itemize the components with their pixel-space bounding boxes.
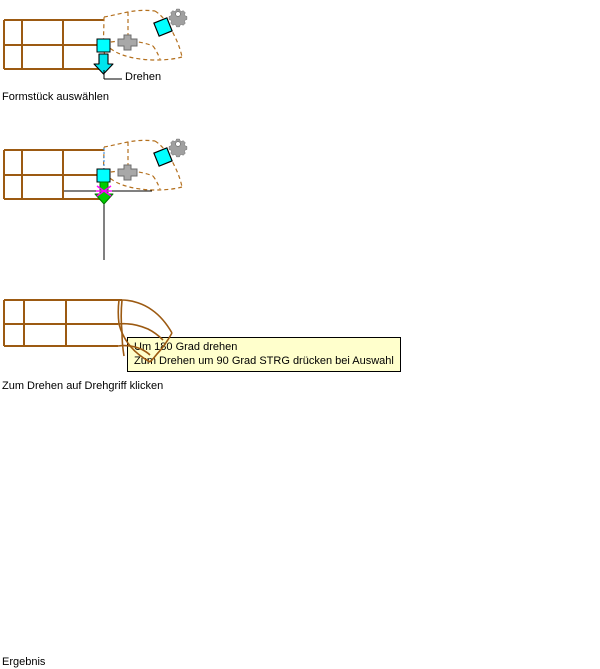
duct-grid-straight — [4, 150, 104, 199]
move-grip-plus[interactable] — [118, 165, 137, 180]
rotated-fitting-result — [118, 300, 172, 362]
step-1-drawing — [0, 0, 600, 90]
caption-step-1: Formstück auswählen — [2, 91, 109, 104]
illustration-stage: Drehen Formstück auswählen — [0, 0, 600, 401]
leader-label-drehen: Drehen — [125, 71, 161, 83]
rotate-grip-square[interactable] — [97, 39, 110, 52]
gear-icon[interactable] — [169, 9, 187, 27]
rotate-grip-square[interactable] — [97, 169, 110, 182]
duct-grid-straight — [4, 20, 104, 69]
step-2-drawing — [0, 130, 600, 260]
step-3-drawing — [0, 288, 600, 368]
rotate-grip-square-rotated[interactable] — [154, 18, 172, 36]
move-grip-plus[interactable] — [118, 35, 137, 50]
duct-grid-straight — [4, 300, 122, 346]
step-select-fitting: Drehen Formstück auswählen — [0, 0, 600, 112]
crosshair-icon — [64, 148, 152, 260]
rotate-grip-square-rotated[interactable] — [154, 148, 172, 166]
step-click-rotate-grip: Um 180 Grad drehen Zum Drehen um 90 Grad… — [0, 130, 600, 262]
gear-icon[interactable] — [169, 139, 187, 157]
step-result: Ergebnis — [0, 288, 600, 388]
green-arrow-icon — [95, 182, 113, 204]
caption-step-3: Ergebnis — [2, 656, 45, 669]
